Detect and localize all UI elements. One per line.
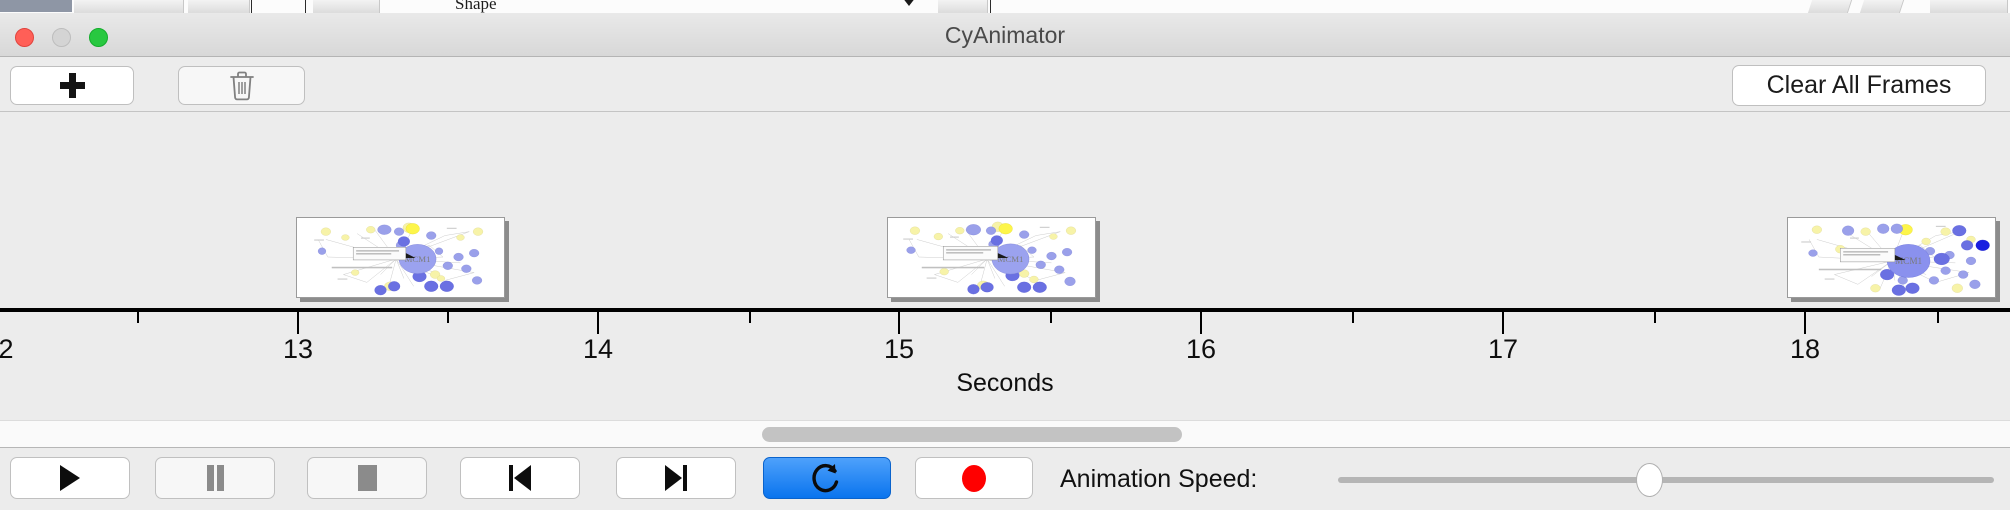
axis-tick-major	[297, 312, 299, 334]
clear-all-frames-button[interactable]: Clear All Frames	[1732, 65, 1986, 106]
axis-tick-minor	[1050, 312, 1052, 323]
axis-tick-minor	[447, 312, 449, 323]
animation-speed-slider[interactable]	[1338, 477, 1994, 483]
axis-tick-label: 17	[1473, 334, 1533, 365]
frame-toolbar: Clear All Frames	[0, 57, 2010, 112]
timeline-scrollbar[interactable]	[0, 420, 2010, 448]
stop-button[interactable]	[307, 457, 427, 499]
plus-icon	[60, 73, 85, 98]
window-title: CyAnimator	[0, 13, 2010, 57]
scrollbar-thumb[interactable]	[762, 427, 1182, 442]
background-toolbar-chip	[74, 0, 184, 13]
axis-tick-major	[898, 312, 900, 334]
skip-back-icon	[507, 465, 533, 491]
frame-thumbnail[interactable]: MCM1	[1787, 217, 1996, 298]
background-divider	[251, 0, 252, 13]
axis-tick-minor	[1352, 312, 1354, 323]
axis-tick-major	[1502, 312, 1504, 334]
axis-tick-minor	[1937, 312, 1939, 323]
loop-button[interactable]	[763, 457, 891, 499]
add-frame-button[interactable]	[10, 66, 134, 105]
background-toolbar-chip	[1930, 0, 2008, 13]
play-button[interactable]	[10, 457, 130, 499]
network-graph-icon: MCM1	[297, 218, 504, 297]
cyanimator-window: Shape CyAnimator Clear All Frames	[0, 0, 2010, 510]
animation-speed-label: Animation Speed:	[1060, 449, 1257, 510]
axis-tick-label: 2	[0, 334, 36, 365]
network-graph-icon: MCM1	[1788, 218, 1995, 297]
axis-tick-label: 13	[268, 334, 328, 365]
network-graph-icon: MCM1	[888, 218, 1095, 297]
axis-tick-label: 18	[1775, 334, 1835, 365]
background-window-titlebar-fragment	[0, 0, 72, 12]
background-divider	[990, 0, 991, 13]
title-bar: CyAnimator	[0, 13, 2010, 57]
background-toolbar-chip	[1860, 0, 1904, 13]
axis-tick-major	[1804, 312, 1806, 334]
background-divider	[305, 0, 306, 13]
skip-forward-icon	[663, 465, 689, 491]
background-window-strip: Shape	[0, 0, 2010, 13]
axis-tick-label: 15	[869, 334, 929, 365]
background-toolbar-chip	[938, 0, 988, 13]
play-icon	[60, 465, 80, 491]
loop-icon	[812, 462, 842, 494]
background-caret-icon	[902, 0, 916, 6]
next-frame-button[interactable]	[616, 457, 736, 499]
background-toolbar-chip	[1808, 0, 1852, 13]
pause-button[interactable]	[155, 457, 275, 499]
previous-frame-button[interactable]	[460, 457, 580, 499]
axis-tick-label: 16	[1171, 334, 1231, 365]
stop-icon	[358, 465, 377, 491]
animation-speed-slider-thumb[interactable]	[1636, 463, 1663, 497]
axis-tick-minor	[137, 312, 139, 323]
timeline-panel[interactable]: MCM1	[0, 113, 2010, 420]
record-icon	[962, 465, 986, 492]
record-button[interactable]	[915, 457, 1033, 499]
axis-tick-major	[597, 312, 599, 334]
background-window-label: Shape	[455, 0, 497, 10]
timeline-axis	[0, 308, 2010, 312]
frame-thumbnail[interactable]: MCM1	[887, 217, 1096, 298]
axis-tick-minor	[1654, 312, 1656, 323]
axis-tick-label: 14	[568, 334, 628, 365]
axis-title: Seconds	[0, 369, 2010, 398]
delete-frame-button[interactable]	[178, 66, 305, 105]
trash-icon	[229, 71, 255, 101]
axis-tick-major	[1200, 312, 1202, 334]
background-toolbar-chip	[313, 0, 380, 13]
pause-icon	[205, 465, 226, 491]
axis-tick-minor	[749, 312, 751, 323]
frame-thumbnail[interactable]: MCM1	[296, 217, 505, 298]
background-toolbar-chip	[188, 0, 250, 13]
